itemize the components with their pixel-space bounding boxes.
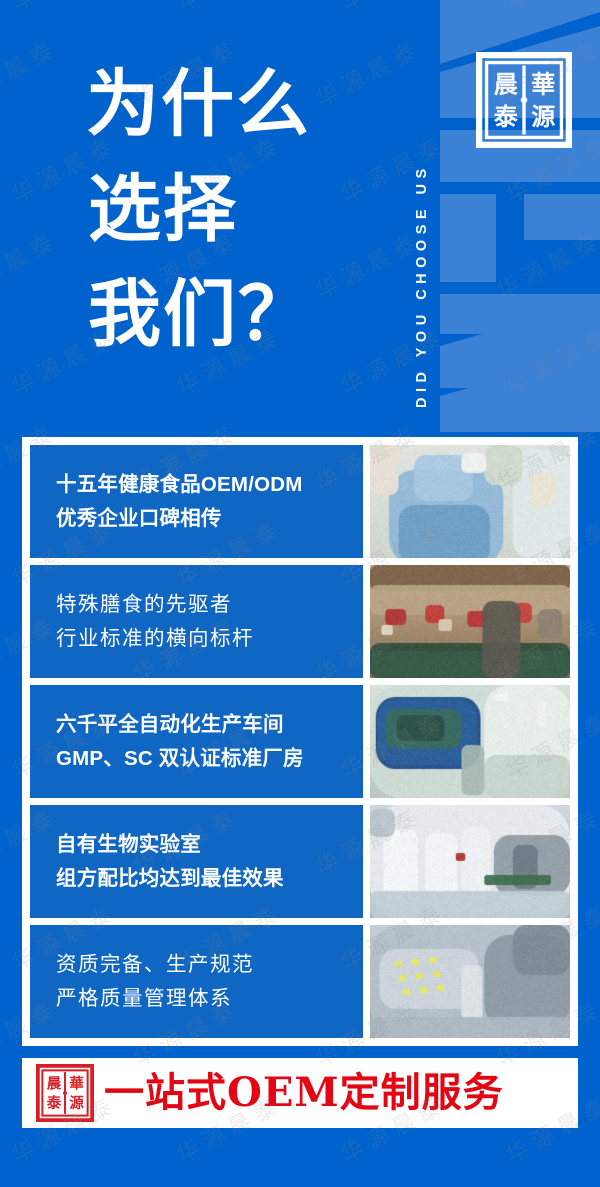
- watermark-text: 华源晨泰: [309, 1183, 426, 1187]
- banner-headline: 一站式OEM定制服务: [104, 1073, 504, 1113]
- feature-line: 自有生物实验室: [56, 828, 363, 861]
- watermark-text: 华源晨泰: [128, 1183, 245, 1187]
- svg-text:源: 源: [69, 1094, 84, 1112]
- svg-text:晨: 晨: [494, 69, 519, 98]
- svg-text:泰: 泰: [494, 102, 519, 131]
- feature-photo: [370, 805, 570, 918]
- feature-row: 自有生物实验室 组方配比均达到最佳效果: [30, 805, 570, 918]
- feature-line: GMP、SC 双认证标准厂房: [56, 742, 363, 775]
- feature-line: 严格质量管理体系: [56, 982, 363, 1015]
- feature-photo: [370, 925, 570, 1038]
- feature-line: 资质完备、生产规范: [56, 948, 363, 981]
- feature-line: 组方配比均达到最佳效果: [56, 862, 363, 895]
- svg-text:泰: 泰: [47, 1094, 62, 1112]
- feature-line: 优秀企业口碑相传: [56, 502, 363, 535]
- vertical-english-subtitle: DID YOU CHOOSE US: [414, 18, 430, 408]
- poster-root: 为什么 选择 我们？ DID YOU CHOOSE US 晨 泰 華 源: [0, 0, 600, 1187]
- feature-list: 十五年健康食品OEM/ODM 优秀企业口碑相传 特殊膳食的先驱者 行业标准的横向…: [22, 437, 578, 1046]
- title-line-2: 选择: [86, 157, 313, 262]
- feature-line: 六千平全自动化生产车间: [56, 708, 363, 741]
- feature-photo: [370, 445, 570, 558]
- feature-text-card: 六千平全自动化生产车间 GMP、SC 双认证标准厂房: [30, 685, 363, 798]
- svg-text:晨: 晨: [47, 1074, 62, 1092]
- watermark-text: 华源晨泰: [0, 1183, 63, 1187]
- feature-text-card: 特殊膳食的先驱者 行业标准的横向标杆: [30, 565, 363, 678]
- company-seal-logo-red: 晨 泰 華 源: [36, 1064, 94, 1122]
- feature-row: 十五年健康食品OEM/ODM 优秀企业口碑相传: [30, 445, 570, 558]
- company-seal-logo-white: 晨 泰 華 源: [476, 52, 572, 148]
- feature-row: 资质完备、生产规范 严格质量管理体系: [30, 925, 570, 1038]
- feature-photo: [370, 565, 570, 678]
- feature-line: 行业标准的横向标杆: [56, 622, 363, 655]
- bottom-banner: 晨 泰 華 源 一站式OEM定制服务: [22, 1058, 578, 1128]
- feature-photo: [370, 685, 570, 798]
- svg-text:華: 華: [531, 69, 555, 98]
- feature-line: 十五年健康食品OEM/ODM: [56, 468, 363, 501]
- feature-row: 特殊膳食的先驱者 行业标准的横向标杆: [30, 565, 570, 678]
- watermark-text: 华源晨泰: [491, 1183, 600, 1187]
- feature-row: 六千平全自动化生产车间 GMP、SC 双认证标准厂房: [30, 685, 570, 798]
- title-line-3: 我们？: [86, 262, 313, 367]
- page-title: 为什么 选择 我们？: [86, 52, 313, 367]
- feature-line: 特殊膳食的先驱者: [56, 588, 363, 621]
- hero-section: 为什么 选择 我们？ DID YOU CHOOSE US 晨 泰 華 源: [0, 0, 600, 432]
- svg-text:源: 源: [531, 102, 555, 131]
- title-line-1: 为什么: [86, 52, 313, 157]
- feature-text-card: 自有生物实验室 组方配比均达到最佳效果: [30, 805, 363, 918]
- svg-text:華: 華: [69, 1074, 84, 1092]
- feature-text-card: 十五年健康食品OEM/ODM 优秀企业口碑相传: [30, 445, 363, 558]
- feature-text-card: 资质完备、生产规范 严格质量管理体系: [30, 925, 363, 1038]
